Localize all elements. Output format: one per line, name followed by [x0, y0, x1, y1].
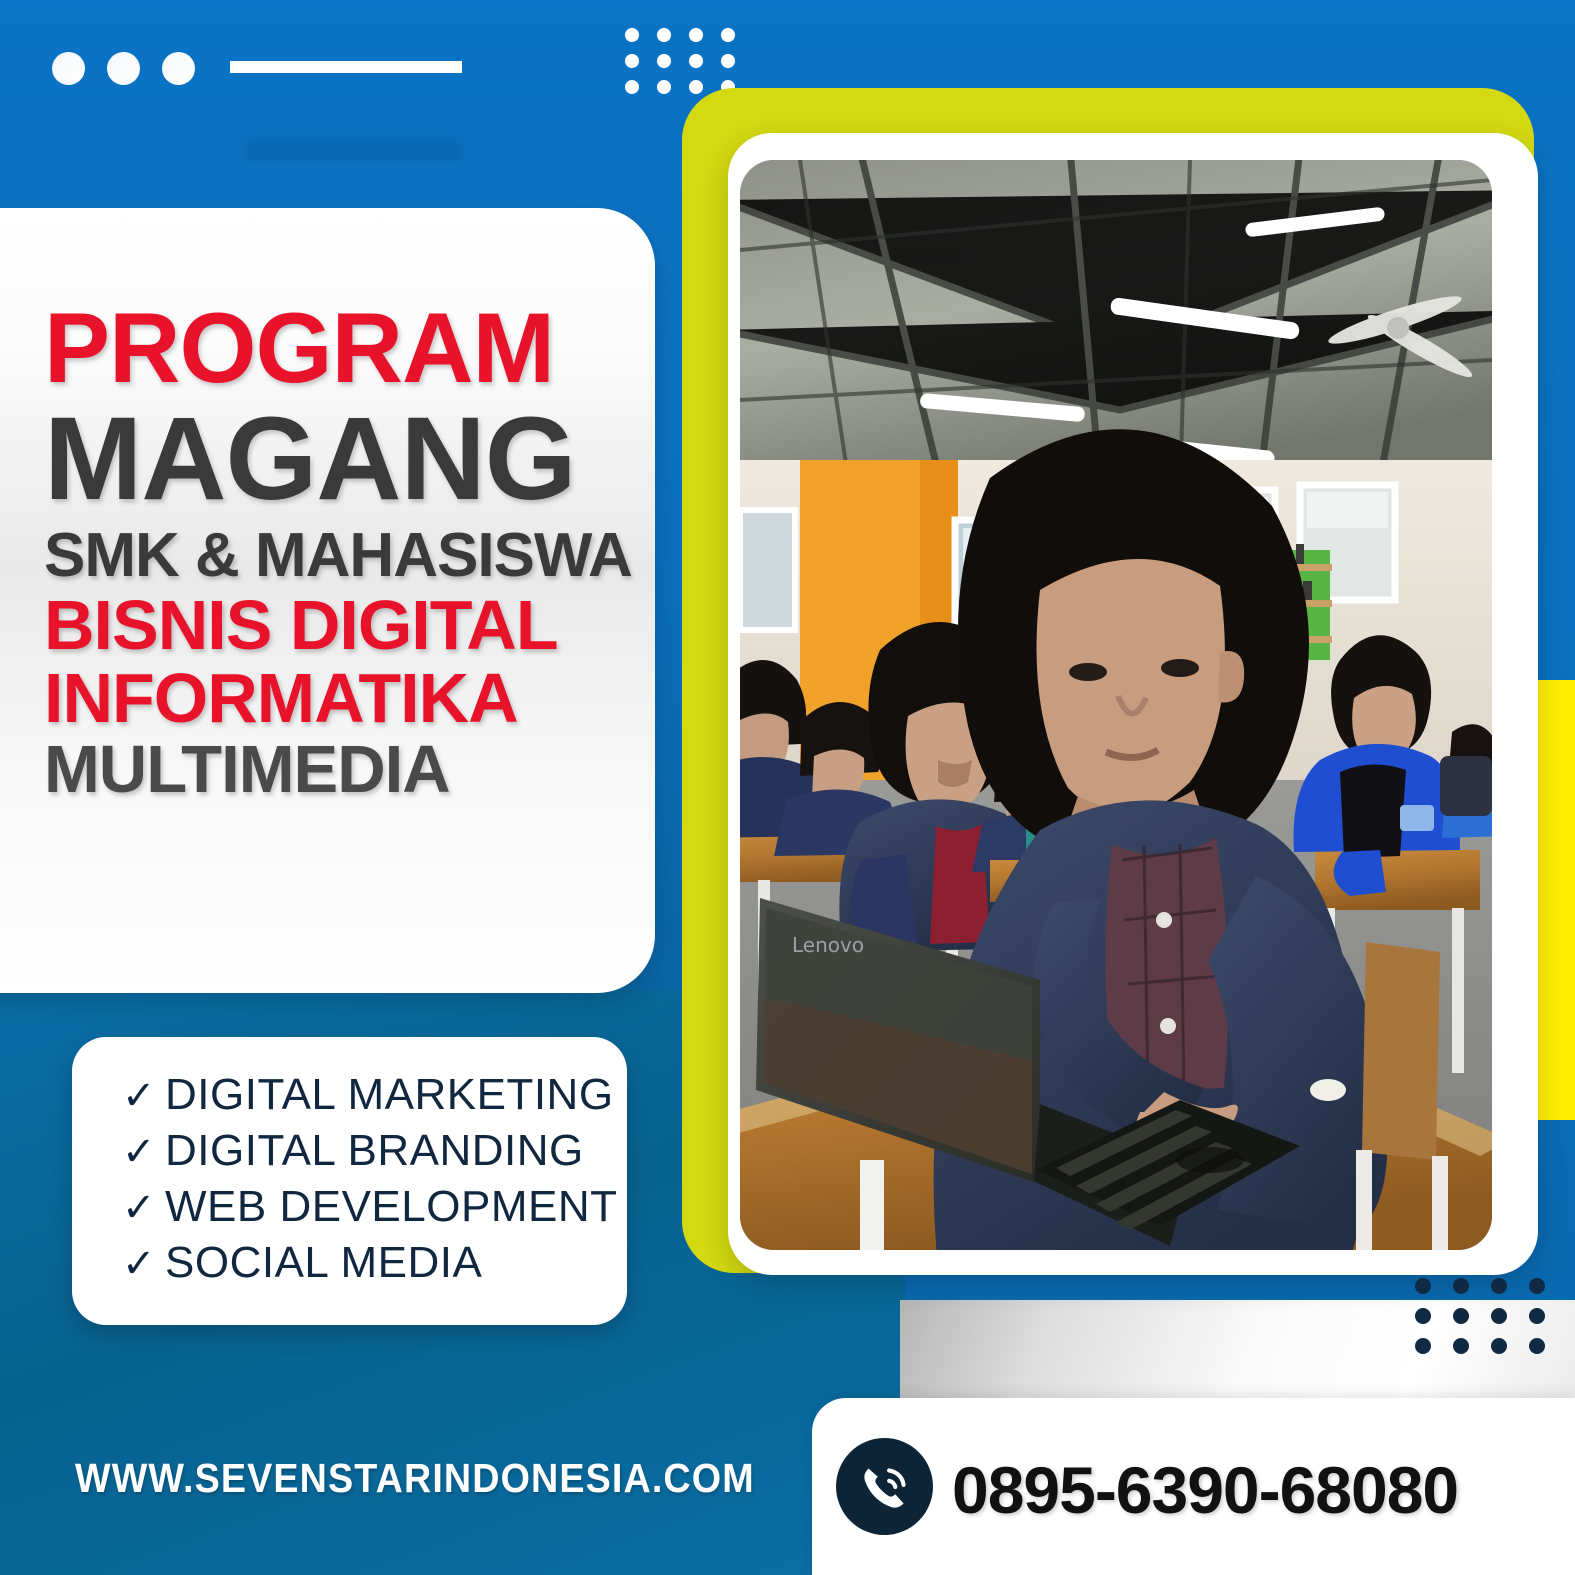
header-circle-2	[107, 52, 140, 85]
svg-text:Lenovo: Lenovo	[792, 933, 864, 957]
list-item-label: WEB DEVELOPMENT	[165, 1179, 617, 1235]
headline-line-smk: SMK & MAHASISWA	[44, 526, 744, 586]
headline-line-magang: MAGANG	[44, 403, 744, 516]
poster-canvas: Lenovo PRO	[0, 0, 1575, 1575]
check-icon: ✓	[122, 1239, 156, 1290]
list-item-label: DIGITAL MARKETING	[165, 1067, 614, 1123]
headline-line-multimedia: MULTIMEDIA	[44, 738, 744, 802]
list-item: ✓ WEB DEVELOPMENT	[122, 1179, 617, 1235]
headline-text-block: PROGRAM MAGANG SMK & MAHASISWA BISNIS DI…	[44, 300, 744, 803]
header-circle-3	[162, 52, 195, 85]
check-icon: ✓	[122, 1071, 156, 1122]
header-shadow-bar	[245, 140, 460, 162]
services-list: ✓ DIGITAL MARKETING ✓ DIGITAL BRANDING ✓…	[122, 1067, 617, 1291]
header-divider-bar	[230, 61, 462, 73]
headline-line-informatika: INFORMATIKA	[44, 665, 744, 732]
list-item: ✓ DIGITAL BRANDING	[122, 1123, 617, 1179]
services-checklist-card: ✓ DIGITAL MARKETING ✓ DIGITAL BRANDING ✓…	[72, 1037, 627, 1325]
phone-number[interactable]: 0895-6390-68080	[952, 1452, 1458, 1528]
classroom-photo: Lenovo	[740, 160, 1492, 1250]
dot-grid-top-icon	[625, 28, 723, 88]
check-icon: ✓	[122, 1127, 156, 1178]
dot-grid-bottom-icon	[1415, 1278, 1535, 1352]
list-item-label: SOCIAL MEDIA	[165, 1235, 482, 1291]
header-circle-1	[52, 52, 85, 85]
list-item: ✓ DIGITAL MARKETING	[122, 1067, 617, 1123]
headline-line-program: PROGRAM	[44, 300, 744, 395]
phone-ringing-icon	[836, 1438, 933, 1535]
header-circles	[52, 52, 195, 85]
headline-line-bisnis: BISNIS DIGITAL	[44, 592, 744, 659]
website-url[interactable]: WWW.SEVENSTARINDONESIA.COM	[75, 1455, 755, 1502]
check-icon: ✓	[122, 1183, 156, 1234]
list-item-label: DIGITAL BRANDING	[165, 1123, 584, 1179]
list-item: ✓ SOCIAL MEDIA	[122, 1235, 617, 1291]
